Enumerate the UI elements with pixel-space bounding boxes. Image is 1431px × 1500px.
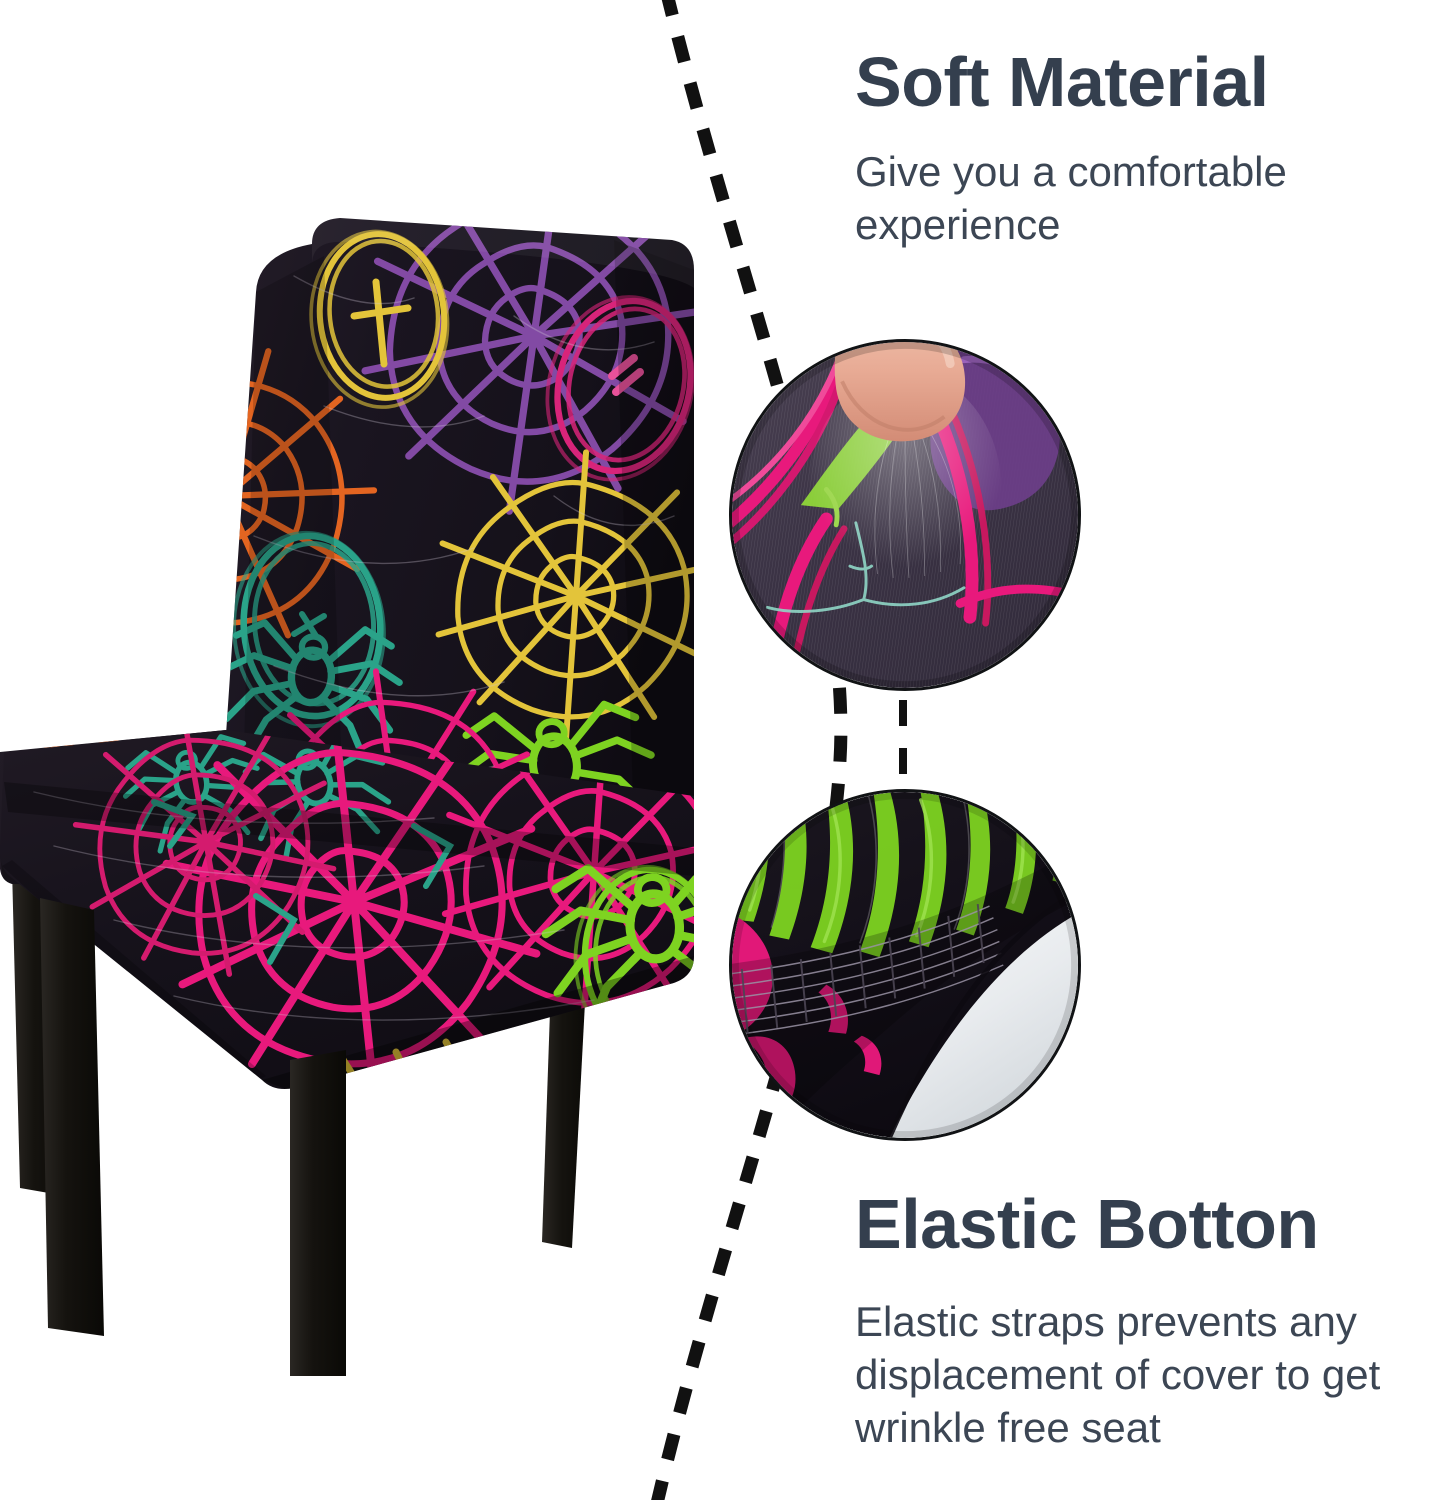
feature-title-elastic-botton: Elastic Botton	[855, 1188, 1385, 1261]
soft-material-closeup	[732, 342, 1078, 688]
feature-block-elastic-botton: Elastic Botton Elastic straps prevents a…	[855, 1188, 1385, 1455]
chair-leg-front-right	[290, 1050, 346, 1376]
feature-title-soft-material: Soft Material	[855, 46, 1385, 119]
feature-description-soft-material: Give you a comfortable experience	[855, 145, 1385, 252]
feature-block-soft-material: Soft Material Give you a comfortable exp…	[855, 46, 1385, 251]
chair-svg	[0, 196, 714, 1376]
infographic-canvas: Soft Material Give you a comfortable exp…	[0, 0, 1431, 1500]
chair-leg-front-left	[40, 898, 104, 1336]
product-chair-image	[0, 196, 714, 1376]
detail-circle-elastic-bottom	[729, 789, 1081, 1141]
elastic-hem-closeup	[732, 792, 1078, 1138]
feature-description-elastic-botton: Elastic straps prevents any displacement…	[855, 1295, 1385, 1455]
circle-connector-dashes	[899, 700, 907, 786]
detail-circle-soft-material	[729, 339, 1081, 691]
